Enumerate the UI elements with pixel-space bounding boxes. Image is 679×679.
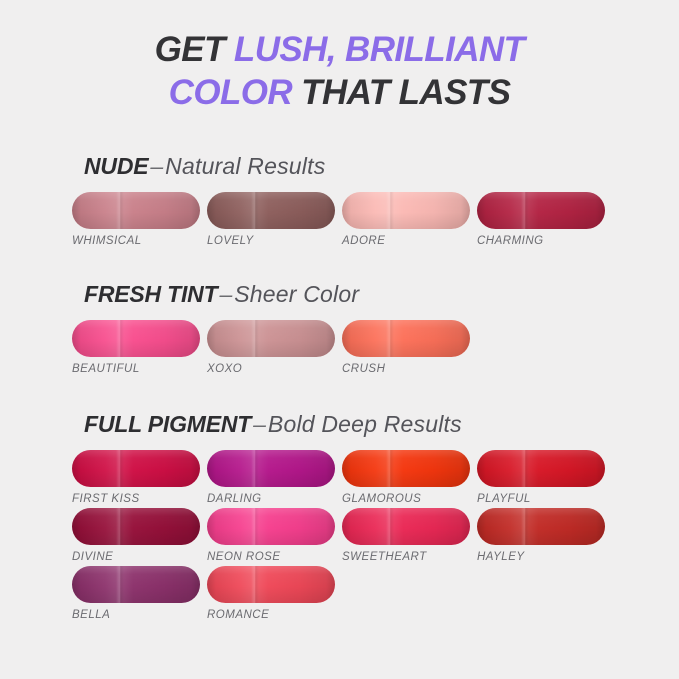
swatch-label: BEAUTIFUL (72, 363, 200, 375)
headline-line-2-dark: THAT LASTS (292, 73, 510, 112)
swatch-label: XOXO (207, 363, 335, 375)
swatch-cell[interactable]: CHARMING (477, 192, 605, 247)
swatch-cell[interactable]: DARLING (207, 450, 335, 505)
swatch-cell[interactable]: WHIMSICAL (72, 192, 200, 247)
swatch-highlight (477, 508, 605, 545)
swatch-highlight (72, 566, 200, 603)
swatch-chip[interactable] (342, 320, 470, 357)
swatch-crease (521, 450, 529, 487)
headline-line-2-accent: COLOR (169, 73, 292, 112)
swatch-highlight (72, 192, 200, 229)
section-full-pigment-dash: – (251, 411, 268, 437)
section-fresh-tint-subtitle: Sheer Color (234, 281, 359, 307)
swatch-cell[interactable]: PLAYFUL (477, 450, 605, 505)
swatch-highlight (72, 508, 200, 545)
swatch-chip[interactable] (72, 192, 200, 229)
section-fresh-tint-dash: – (217, 281, 234, 307)
swatch-cell[interactable]: GLAMOROUS (342, 450, 470, 505)
swatch-chip[interactable] (72, 508, 200, 545)
swatch-label: FIRST KISS (72, 493, 200, 505)
swatch-cell[interactable]: BELLA (72, 566, 200, 621)
swatch-row: BELLAROMANCE (72, 566, 679, 624)
swatch-crease (251, 508, 259, 545)
swatch-cell[interactable]: NEON ROSE (207, 508, 335, 563)
swatch-chip[interactable] (477, 508, 605, 545)
swatch-cell[interactable]: ROMANCE (207, 566, 335, 621)
swatch-crease (521, 192, 529, 229)
section-nude-heading: NUDE–Natural Results (84, 153, 679, 179)
swatch-cell[interactable]: BEAUTIFUL (72, 320, 200, 375)
swatch-highlight (72, 450, 200, 487)
swatch-crease (386, 450, 394, 487)
swatch-highlight (72, 320, 200, 357)
swatch-label: NEON ROSE (207, 551, 335, 563)
swatch-row: WHIMSICALLOVELYADORECHARMING (72, 192, 679, 250)
swatch-cell[interactable]: DIVINE (72, 508, 200, 563)
section-nude-dash: – (148, 153, 165, 179)
swatch-chip[interactable] (207, 508, 335, 545)
swatch-chip[interactable] (72, 320, 200, 357)
swatch-label: BELLA (72, 609, 200, 621)
swatch-highlight (207, 192, 335, 229)
headline-line-1-accent: LUSH, BRILLIANT (234, 30, 524, 69)
swatch-chip[interactable] (342, 450, 470, 487)
swatch-highlight (342, 450, 470, 487)
swatch-highlight (477, 192, 605, 229)
section-fresh-tint-heading: FRESH TINT–Sheer Color (84, 281, 679, 307)
section-nude: NUDE–Natural Results WHIMSICALLOVELYADOR… (0, 153, 679, 250)
swatch-crease (251, 192, 259, 229)
swatch-crease (386, 320, 394, 357)
headline-line-2: COLOR THAT LASTS (0, 71, 679, 114)
section-fresh-tint-rows: BEAUTIFULXOXOCRUSH (0, 320, 679, 378)
swatch-cell[interactable]: ADORE (342, 192, 470, 247)
section-full-pigment: FULL PIGMENT–Bold Deep Results FIRST KIS… (0, 411, 679, 624)
swatch-chip[interactable] (207, 450, 335, 487)
swatch-label: LOVELY (207, 235, 335, 247)
swatch-chip[interactable] (207, 192, 335, 229)
section-fresh-tint: FRESH TINT–Sheer Color BEAUTIFULXOXOCRUS… (0, 281, 679, 378)
swatch-crease (251, 566, 259, 603)
swatch-row: FIRST KISSDARLINGGLAMOROUSPLAYFUL (72, 450, 679, 508)
swatch-label: CRUSH (342, 363, 470, 375)
swatch-chip[interactable] (342, 508, 470, 545)
swatch-label: DARLING (207, 493, 335, 505)
swatch-label: ADORE (342, 235, 470, 247)
swatch-crease (251, 320, 259, 357)
swatch-crease (116, 566, 124, 603)
section-full-pigment-subtitle: Bold Deep Results (268, 411, 462, 437)
section-full-pigment-heading: FULL PIGMENT–Bold Deep Results (84, 411, 679, 437)
swatch-crease (116, 508, 124, 545)
swatch-chip[interactable] (72, 566, 200, 603)
swatch-highlight (207, 508, 335, 545)
swatch-crease (386, 508, 394, 545)
swatch-crease (386, 192, 394, 229)
swatch-label: HAYLEY (477, 551, 605, 563)
swatch-label: SWEETHEART (342, 551, 470, 563)
swatch-highlight (207, 320, 335, 357)
swatch-cell[interactable]: SWEETHEART (342, 508, 470, 563)
swatch-highlight (342, 508, 470, 545)
swatch-chip[interactable] (477, 192, 605, 229)
swatch-crease (521, 508, 529, 545)
section-nude-rows: WHIMSICALLOVELYADORECHARMING (0, 192, 679, 250)
page-headline: GET LUSH, BRILLIANT COLOR THAT LASTS (0, 28, 679, 114)
swatch-cell[interactable]: FIRST KISS (72, 450, 200, 505)
headline-line-1: GET LUSH, BRILLIANT (0, 28, 679, 71)
swatch-cell[interactable]: CRUSH (342, 320, 470, 375)
section-nude-title: NUDE (84, 153, 148, 179)
swatch-label: CHARMING (477, 235, 605, 247)
swatch-crease (116, 320, 124, 357)
swatch-highlight (207, 450, 335, 487)
swatch-chip[interactable] (207, 320, 335, 357)
swatch-label: DIVINE (72, 551, 200, 563)
swatch-crease (251, 450, 259, 487)
swatch-crease (116, 450, 124, 487)
swatch-chip[interactable] (72, 450, 200, 487)
swatch-chip[interactable] (477, 450, 605, 487)
swatch-label: WHIMSICAL (72, 235, 200, 247)
swatch-highlight (342, 320, 470, 357)
swatch-chip[interactable] (207, 566, 335, 603)
swatch-highlight (477, 450, 605, 487)
section-full-pigment-title: FULL PIGMENT (84, 411, 251, 437)
swatch-chip[interactable] (342, 192, 470, 229)
swatch-cell[interactable]: XOXO (207, 320, 335, 375)
swatch-cell[interactable]: LOVELY (207, 192, 335, 247)
section-nude-subtitle: Natural Results (165, 153, 325, 179)
shade-chart-page: GET LUSH, BRILLIANT COLOR THAT LASTS NUD… (0, 0, 679, 679)
swatch-crease (116, 192, 124, 229)
swatch-row: DIVINENEON ROSESWEETHEARTHAYLEY (72, 508, 679, 566)
section-full-pigment-rows: FIRST KISSDARLINGGLAMOROUSPLAYFULDIVINEN… (0, 450, 679, 624)
swatch-label: ROMANCE (207, 609, 335, 621)
swatch-cell[interactable]: HAYLEY (477, 508, 605, 563)
swatch-row: BEAUTIFULXOXOCRUSH (72, 320, 679, 378)
swatch-label: GLAMOROUS (342, 493, 470, 505)
swatch-highlight (207, 566, 335, 603)
section-fresh-tint-title: FRESH TINT (84, 281, 217, 307)
headline-line-1-dark: GET (155, 30, 234, 69)
swatch-highlight (342, 192, 470, 229)
swatch-label: PLAYFUL (477, 493, 605, 505)
